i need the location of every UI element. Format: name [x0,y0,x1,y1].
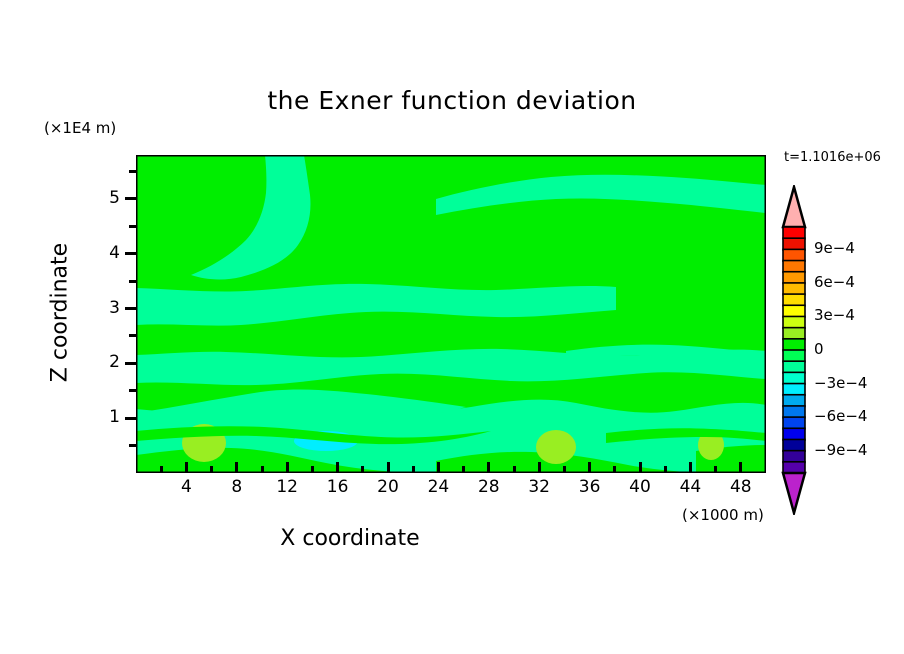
x-tick-major [185,462,188,473]
x-tick-minor [462,466,465,473]
colorbar-tick-label: 6e−4 [814,273,855,291]
colorbar-band [783,384,805,396]
colorbar-band [783,328,805,340]
x-tick-major [487,462,490,473]
colorbar-band [783,406,805,418]
x-tick-major [387,462,390,473]
contour-blob-positive-2 [536,430,576,464]
colorbar-tick-label: −6e−4 [814,407,867,425]
colorbar-band [783,305,805,317]
colorbar-band [783,294,805,306]
x-tick-minor [613,466,616,473]
colorbar-bands [783,187,805,513]
colorbar-band [783,428,805,440]
colorbar-band [783,227,805,239]
x-tick-minor [361,466,364,473]
x-tick-minor [311,466,314,473]
y-tick-label: 4 [90,243,120,263]
colorbar: 9e−46e−43e−40−3e−4−6e−4−9e−4 [778,185,904,515]
x-tick-label: 32 [519,477,559,497]
colorbar-band [783,272,805,284]
x-tick-minor [412,466,415,473]
colorbar-band [783,395,805,407]
x-tick-label: 12 [267,477,307,497]
y-tick-label: 1 [90,407,120,427]
x-tick-minor [210,466,213,473]
x-tick-major [286,462,289,473]
x-axis-ticks: 4812162024283236404448 [136,473,766,513]
x-tick-minor [563,466,566,473]
colorbar-band [783,261,805,273]
x-tick-major [538,462,541,473]
x-tick-major [437,462,440,473]
contour-field [136,155,766,473]
y-tick-major [125,307,136,310]
x-tick-major [689,462,692,473]
y-tick-minor [129,444,136,447]
x-tick-major [235,462,238,473]
colorbar-tick-label: 9e−4 [814,239,855,257]
y-axis-title: Z coordinate [48,193,73,433]
timestamp-annotation: t=1.1016e+06 [784,150,881,165]
colorbar-band [783,372,805,384]
x-tick-major [739,462,742,473]
x-tick-minor [160,466,163,473]
colorbar-bottom-cap [783,473,805,513]
colorbar-band [783,439,805,451]
y-tick-label: 5 [90,188,120,208]
colorbar-band [783,339,805,351]
colorbar-tick-label: 0 [814,340,824,358]
y-tick-minor [129,389,136,392]
x-tick-label: 24 [418,477,458,497]
colorbar-band [783,350,805,362]
contour-plot-area [136,155,766,473]
page-title: the Exner function deviation [0,86,904,115]
y-tick-minor [129,280,136,283]
colorbar-band [783,283,805,295]
colorbar-tick-label: 3e−4 [814,306,855,324]
x-tick-label: 28 [469,477,509,497]
colorbar-band [783,249,805,261]
colorbar-tick-label: −9e−4 [814,441,867,459]
colorbar-band [783,238,805,250]
y-tick-major [125,252,136,255]
x-tick-label: 8 [217,477,257,497]
x-axis-title: X coordinate [0,526,700,551]
x-tick-minor [664,466,667,473]
y-tick-minor [129,170,136,173]
y-tick-minor [129,334,136,337]
x-tick-label: 48 [721,477,761,497]
x-tick-label: 4 [166,477,206,497]
x-tick-major [639,462,642,473]
x-tick-minor [261,466,264,473]
x-tick-label: 16 [318,477,358,497]
colorbar-svg [778,185,904,515]
x-tick-label: 36 [570,477,610,497]
y-tick-major [125,417,136,420]
colorbar-top-cap [783,187,805,227]
y-tick-major [125,197,136,200]
x-tick-label: 44 [670,477,710,497]
colorbar-tick-label: −3e−4 [814,374,867,392]
x-tick-major [336,462,339,473]
y-tick-label: 2 [90,352,120,372]
x-tick-label: 20 [368,477,408,497]
x-tick-label: 40 [620,477,660,497]
y-axis-ticks: 12345 [106,155,136,473]
y-tick-minor [129,225,136,228]
y-tick-label: 3 [90,298,120,318]
colorbar-band [783,417,805,429]
colorbar-band [783,451,805,463]
colorbar-band [783,316,805,328]
x-tick-minor [714,466,717,473]
x-tick-minor [513,466,516,473]
y-axis-unit-label: (×1E4 m) [44,119,116,137]
x-tick-major [588,462,591,473]
colorbar-band [783,361,805,373]
y-tick-major [125,362,136,365]
